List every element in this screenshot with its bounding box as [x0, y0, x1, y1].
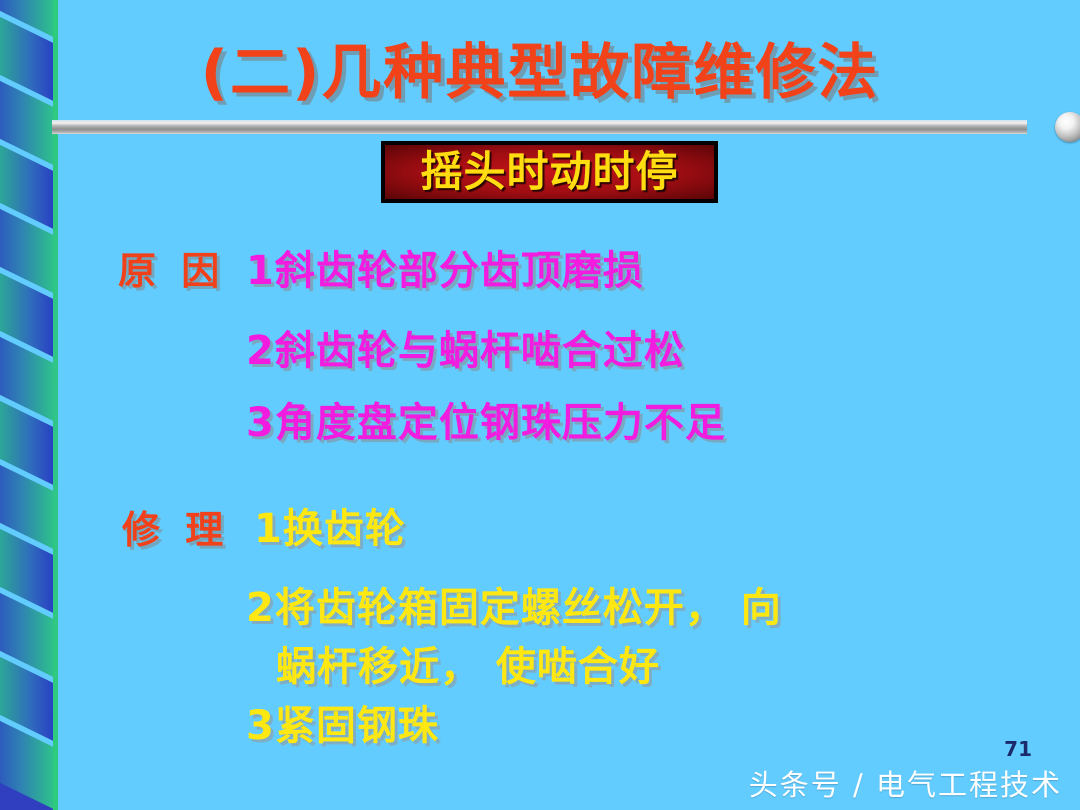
repair-item-1: 1换齿轮 [254, 496, 406, 554]
cause-item-1: 1斜齿轮部分齿顶磨损 [246, 238, 644, 296]
divider-rule [52, 112, 1062, 142]
cause-section-label: 原 因 [118, 240, 225, 295]
divider-bar [52, 120, 1027, 134]
cause-item-3: 3角度盘定位钢珠压力不足 [246, 390, 726, 448]
repair-section-label: 修 理 [122, 499, 229, 554]
cause-item-2: 2斜齿轮与蜗杆啮合过松 [246, 318, 685, 376]
repair-item-2-continuation: 蜗杆移近， 使啮合好 [276, 634, 660, 692]
divider-knob-icon [1055, 112, 1080, 142]
slide-canvas: (二)几种典型故障维修法 摇头时动时停 原 因 1斜齿轮部分齿顶磨损 2斜齿轮与… [0, 0, 1080, 810]
page-title: (二)几种典型故障维修法 [0, 24, 1080, 111]
repair-item-3: 3紧固钢珠 [246, 693, 439, 751]
repair-item-2: 2将齿轮箱固定螺丝松开， 向 [246, 575, 782, 633]
watermark-text: 头条号 / 电气工程技术 [749, 762, 1062, 804]
symptom-banner-label: 摇头时动时停 [420, 151, 678, 193]
decorative-ribbon-sidebar [0, 0, 58, 810]
symptom-banner: 摇头时动时停 [381, 141, 718, 203]
page-number: 71 [1004, 737, 1032, 761]
